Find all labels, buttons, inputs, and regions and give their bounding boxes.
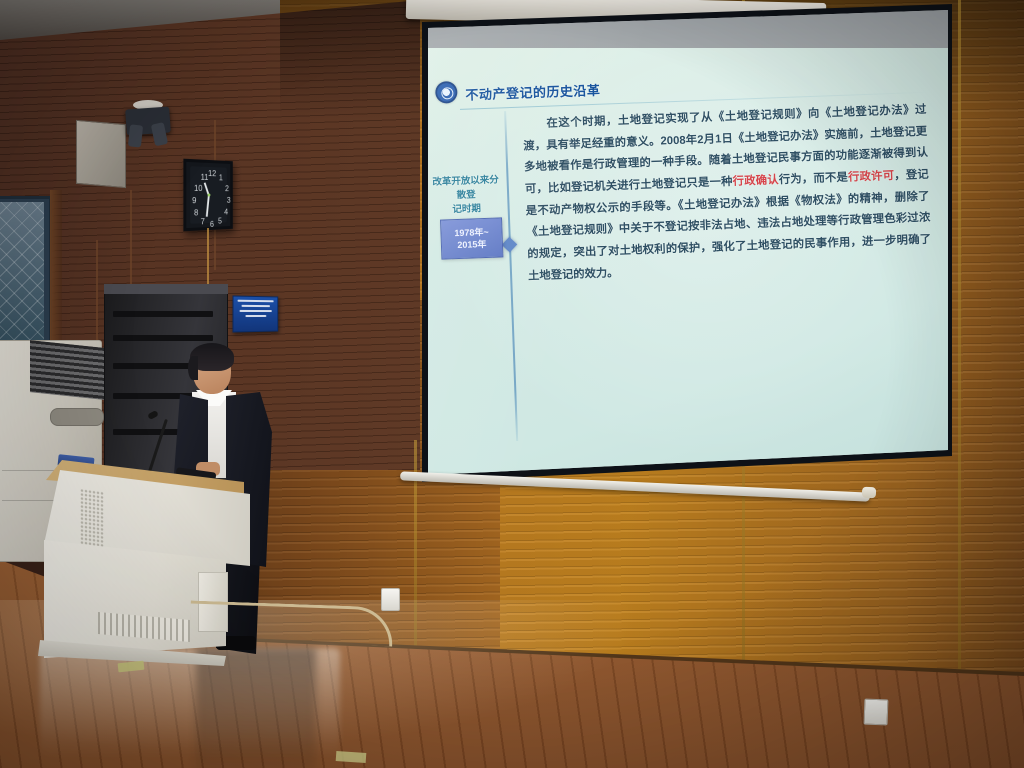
ac-badge xyxy=(50,408,104,426)
timeline-diamond-marker xyxy=(502,237,518,253)
clock-face: 12 1 2 3 4 5 6 7 8 9 10 11 xyxy=(190,166,227,224)
slide-body-text: 在这个时期，土地登记实现了从《土地登记规则》向《土地登记办法》过渡，具有举足经重… xyxy=(522,100,932,288)
timeline-line xyxy=(504,111,518,441)
era-label-line1: 改革开放以来分散登 xyxy=(428,173,503,203)
wall-outlet[interactable] xyxy=(381,588,400,611)
wall-seam xyxy=(958,0,961,700)
era-year-text: 1978年~ 2015年 xyxy=(454,226,489,252)
slide-emblem-icon xyxy=(435,81,458,104)
slide-content: 不动产登记的历史沿革 改革开放以来分散登 记时期 1978年~ 2015年 在这… xyxy=(428,37,950,455)
presentation-photo-scene: 12 1 2 3 4 5 6 7 8 9 10 11 xyxy=(0,0,1024,768)
projection-screen: 不动产登记的历史沿革 改革开放以来分散登 记时期 1978年~ 2015年 在这… xyxy=(404,4,952,484)
door-diamond-glass xyxy=(0,202,44,342)
clock-minute-hand xyxy=(206,196,209,217)
body-part-2: 行为，而不是 xyxy=(779,172,849,187)
era-year-box: 1978年~ 2015年 xyxy=(440,217,503,259)
ac-grille xyxy=(30,340,104,400)
floor-cable xyxy=(189,600,393,646)
person-hair-side xyxy=(188,356,198,380)
wall-outlet-right[interactable] xyxy=(864,699,889,726)
screen-surface: 不动产登记的历史沿革 改革开放以来分散登 记时期 1978年~ 2015年 在这… xyxy=(404,4,952,484)
ceiling-speaker-icon xyxy=(125,106,171,135)
era-year-line2: 2015年 xyxy=(455,238,490,251)
floor-tape xyxy=(336,751,367,763)
blue-notice-sign xyxy=(233,295,279,332)
era-label-line2: 记时期 xyxy=(429,201,503,217)
slide-title: 不动产登记的历史沿革 xyxy=(465,80,601,104)
era-label: 改革开放以来分散登 记时期 xyxy=(428,173,503,217)
wall-clock: 12 1 2 3 4 5 6 7 8 9 10 11 xyxy=(183,159,232,232)
av-rack-top xyxy=(104,284,228,294)
highlight-administrative-confirmation: 行政确认 xyxy=(732,174,779,188)
clock-center xyxy=(208,193,211,196)
highlight-administrative-license: 行政许可 xyxy=(848,170,895,184)
electrical-panel xyxy=(76,120,126,188)
screen-bar-end-cap xyxy=(862,487,876,499)
